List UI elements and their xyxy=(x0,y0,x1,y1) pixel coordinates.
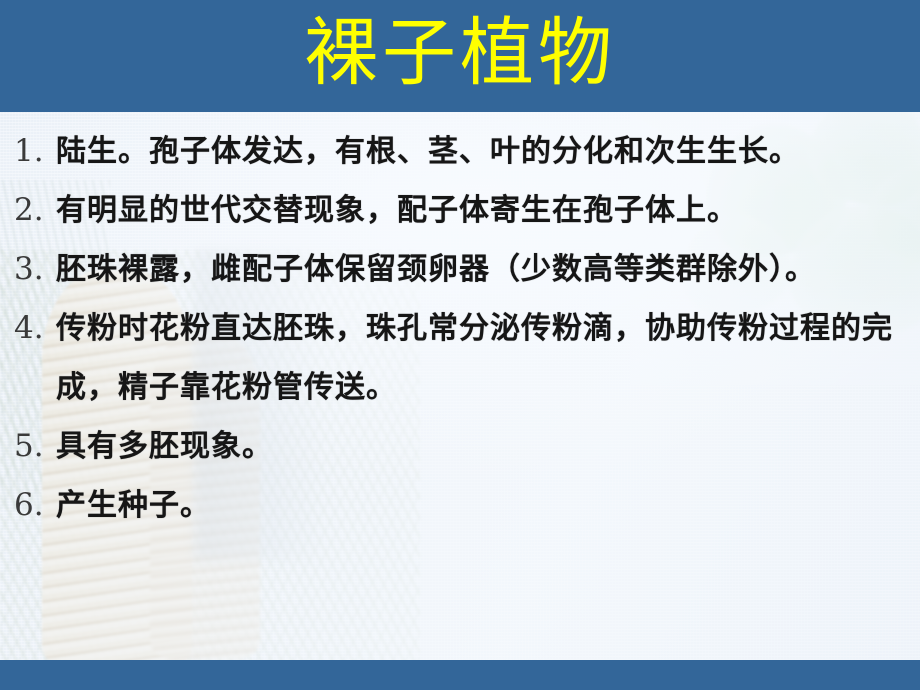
list-item-text: 陆生。孢子体发达，有根、茎、叶的分化和次生生长。 xyxy=(56,122,920,181)
list-item-number: 4. xyxy=(0,299,56,358)
list-item-text: 有明显的世代交替现象，配子体寄生在孢子体上。 xyxy=(56,181,920,240)
list-item-number: 3. xyxy=(0,240,56,299)
list-item-text: 胚珠裸露，雌配子体保留颈卵器（少数高等类群除外）。 xyxy=(56,240,920,299)
feature-list: 1. 陆生。孢子体发达，有根、茎、叶的分化和次生生长。 2. 有明显的世代交替现… xyxy=(0,122,920,535)
title-bar: 裸子植物 xyxy=(0,0,920,112)
list-item: 6. 产生种子。 xyxy=(0,476,920,535)
list-item: 2. 有明显的世代交替现象，配子体寄生在孢子体上。 xyxy=(0,181,920,240)
list-item: 3. 胚珠裸露，雌配子体保留颈卵器（少数高等类群除外）。 xyxy=(0,240,920,299)
footer-bar xyxy=(0,660,920,690)
list-item-number: 1. xyxy=(0,122,56,181)
list-item-number: 6. xyxy=(0,476,56,535)
page-title: 裸子植物 xyxy=(304,16,616,96)
list-item-text: 产生种子。 xyxy=(56,476,920,535)
list-item: 1. 陆生。孢子体发达，有根、茎、叶的分化和次生生长。 xyxy=(0,122,920,181)
list-item-text: 传粉时花粉直达胚珠，珠孔常分泌传粉滴，协助传粉过程的完成，精子靠花粉管传送。 xyxy=(56,299,920,417)
list-item-number: 2. xyxy=(0,181,56,240)
list-item-text: 具有多胚现象。 xyxy=(56,417,920,476)
slide-content: 1. 陆生。孢子体发达，有根、茎、叶的分化和次生生长。 2. 有明显的世代交替现… xyxy=(0,112,920,660)
list-item: 4. 传粉时花粉直达胚珠，珠孔常分泌传粉滴，协助传粉过程的完成，精子靠花粉管传送… xyxy=(0,299,920,417)
list-item: 5. 具有多胚现象。 xyxy=(0,417,920,476)
list-item-number: 5. xyxy=(0,417,56,476)
presentation-slide: 裸子植物 1. 陆生。孢子体发达，有根、茎、叶的分化和次生生长。 2. 有明显的… xyxy=(0,0,920,690)
